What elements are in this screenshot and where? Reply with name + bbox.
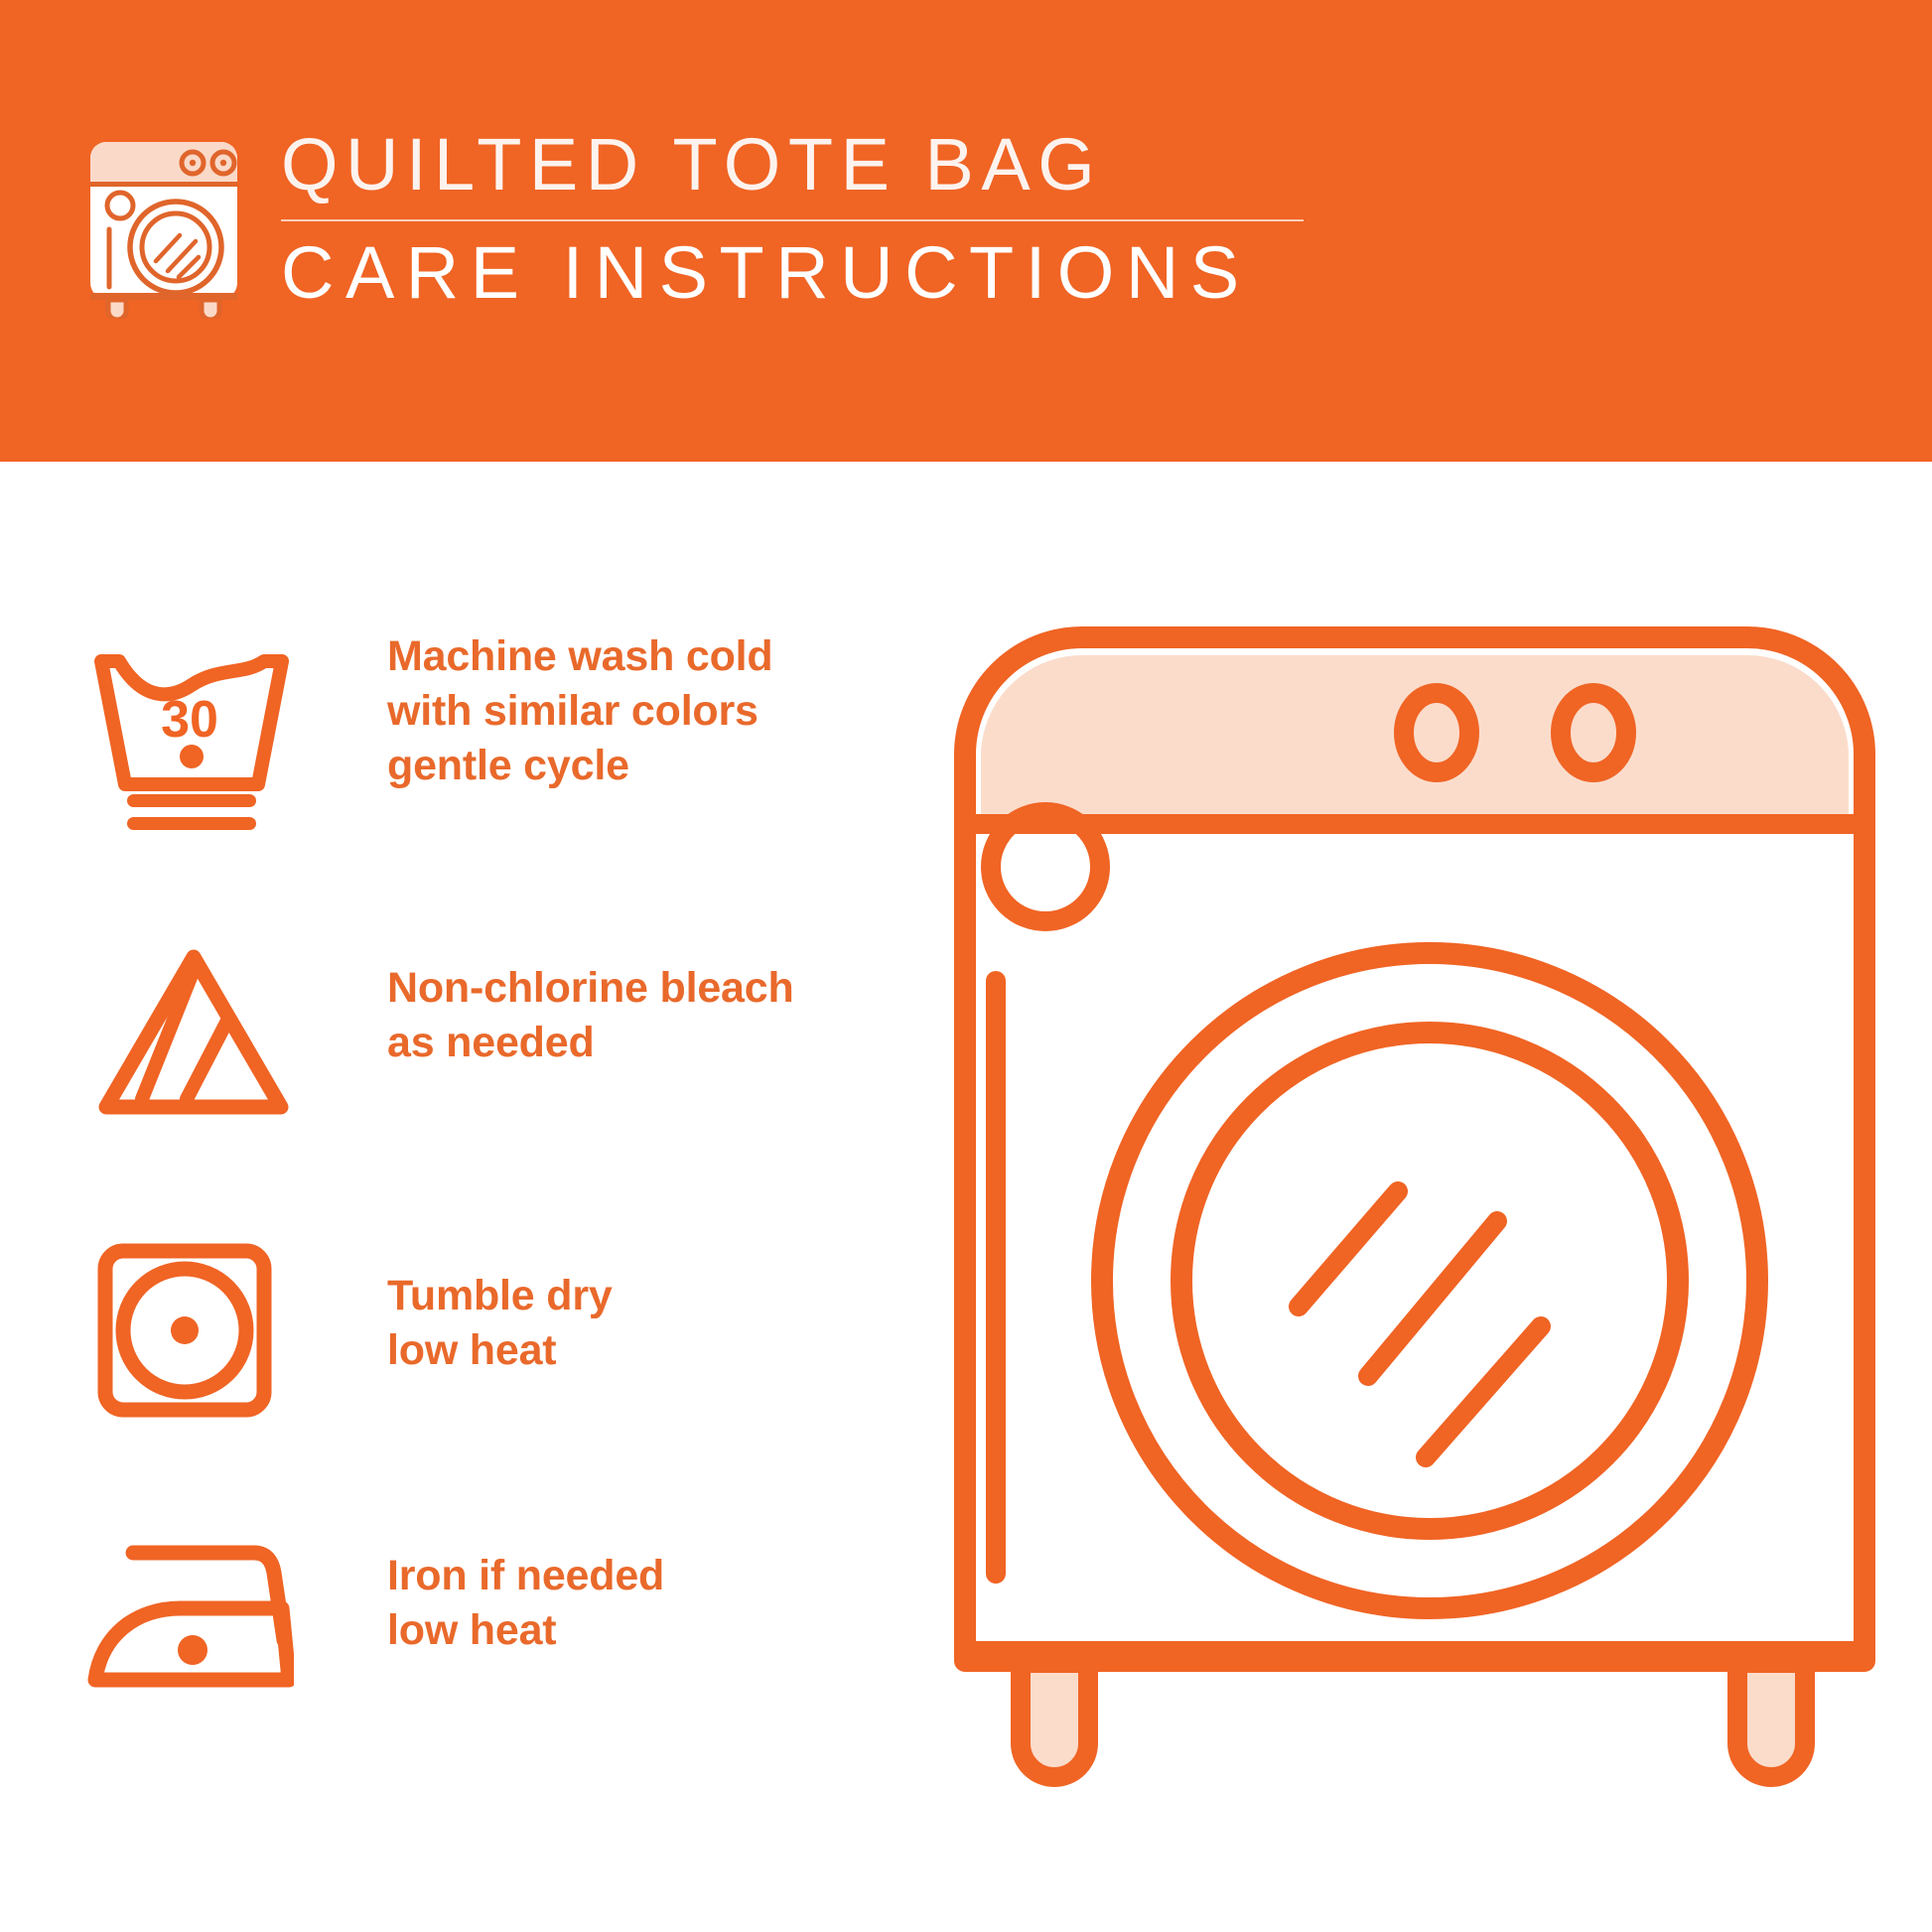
instruction-row-bleach: Non-chlorine bleach as needed (0, 933, 923, 1162)
tumble-dry-low-icon (95, 1241, 274, 1420)
header-text-block: QUILTED TOTE BAG CARE INSTRUCTIONS (281, 127, 1304, 311)
control-panel-divider (975, 814, 1855, 834)
instruction-row-iron: Iron if needed low heat (0, 1519, 923, 1747)
instruction-row-wash: 30 Machine wash cold with similar colors… (0, 635, 923, 864)
care-instructions-page: QUILTED TOTE BAG CARE INSTRUCTIONS 30 (0, 0, 1932, 1932)
bleach-triangle-icon (94, 945, 293, 1119)
instruction-text-wash: Machine wash cold with similar colors ge… (387, 629, 772, 793)
wash-temperature-label: 30 (161, 691, 218, 749)
header-banner: QUILTED TOTE BAG CARE INSTRUCTIONS (0, 0, 1932, 462)
instruction-text-tumble-dry: Tumble dry low heat (387, 1269, 613, 1378)
instruction-text-bleach: Non-chlorine bleach as needed (387, 961, 794, 1070)
instruction-row-tumble-dry: Tumble dry low heat (0, 1241, 923, 1469)
washing-machine-logo-icon (84, 136, 243, 319)
washing-machine-illustration (953, 625, 1876, 1876)
title-divider (281, 219, 1304, 221)
control-knob-right (1561, 693, 1626, 772)
page-subtitle: CARE INSTRUCTIONS (281, 235, 1304, 310)
control-knob-left (1404, 693, 1469, 772)
wash-tub-30-icon: 30 (87, 635, 296, 834)
machine-leg-left (1021, 1663, 1088, 1777)
iron-low-heat-icon (85, 1531, 294, 1700)
machine-leg-right (1737, 1663, 1805, 1777)
instruction-text-iron: Iron if needed low heat (387, 1549, 664, 1658)
page-title: QUILTED TOTE BAG (281, 127, 1304, 202)
